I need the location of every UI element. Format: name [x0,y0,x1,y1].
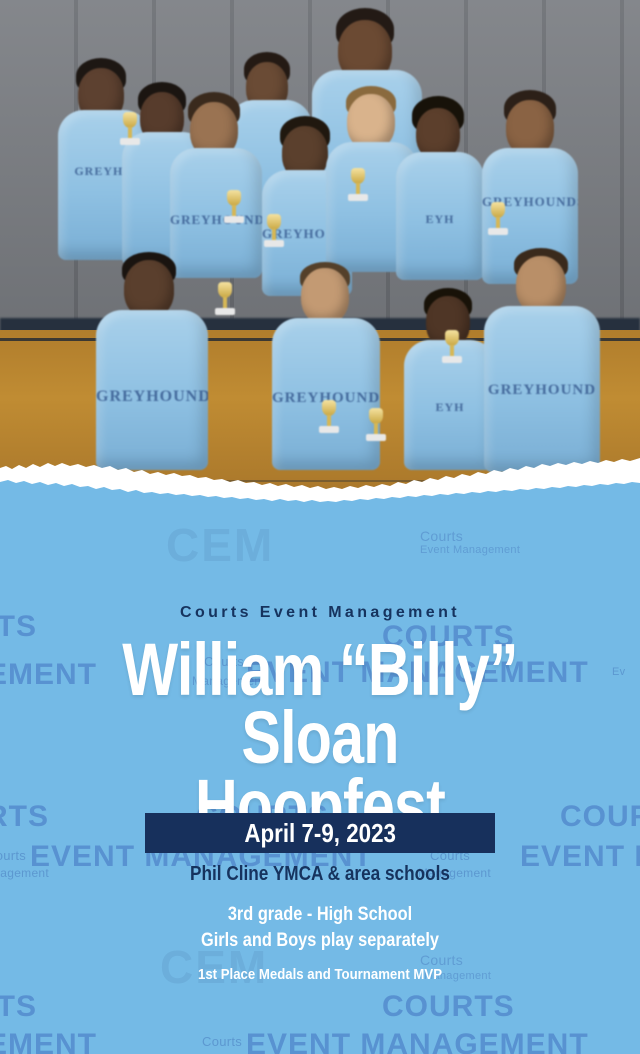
trophy-2 [222,190,246,230]
team-photo: GREYHO GREYHOUNDS [0,0,640,500]
event-poster: GREYHO GREYHOUNDS [0,0,640,1054]
title-line-1: William “Billy” Sloan [64,636,576,772]
person-4: GREYHOUNDS [170,92,262,272]
division-line-2: Girls and Boys play separately [45,928,595,954]
person-9: GREYHOUNDS [96,252,208,468]
person-12: GREYHOUND [484,248,600,470]
trophy-8 [364,408,388,452]
event-awards: 1st Place Medals and Tournament MVP [38,966,601,983]
person-11: EYH [404,288,496,468]
trophy-9 [440,330,464,372]
event-venue: Phil Cline YMCA & area schools [45,863,595,886]
event-date: April 7-9, 2023 [244,818,396,849]
event-title: William “Billy” Sloan Hoopfest [0,636,640,840]
trophy-6 [212,282,238,326]
trophy-4 [346,168,370,208]
poster-content: Courts Event Management William “Billy” … [0,500,640,1054]
trophy-1 [118,112,142,152]
person-7: EYH [396,96,484,276]
division-line-1: 3rd grade - High School [45,902,595,928]
event-divisions: 3rd grade - High School Girls and Boys p… [0,902,640,953]
trophy-7 [316,400,342,446]
trophy-3 [262,214,286,254]
date-banner: April 7-9, 2023 [145,813,495,853]
organization-name: Courts Event Management [0,604,640,622]
trophy-5 [486,202,510,242]
